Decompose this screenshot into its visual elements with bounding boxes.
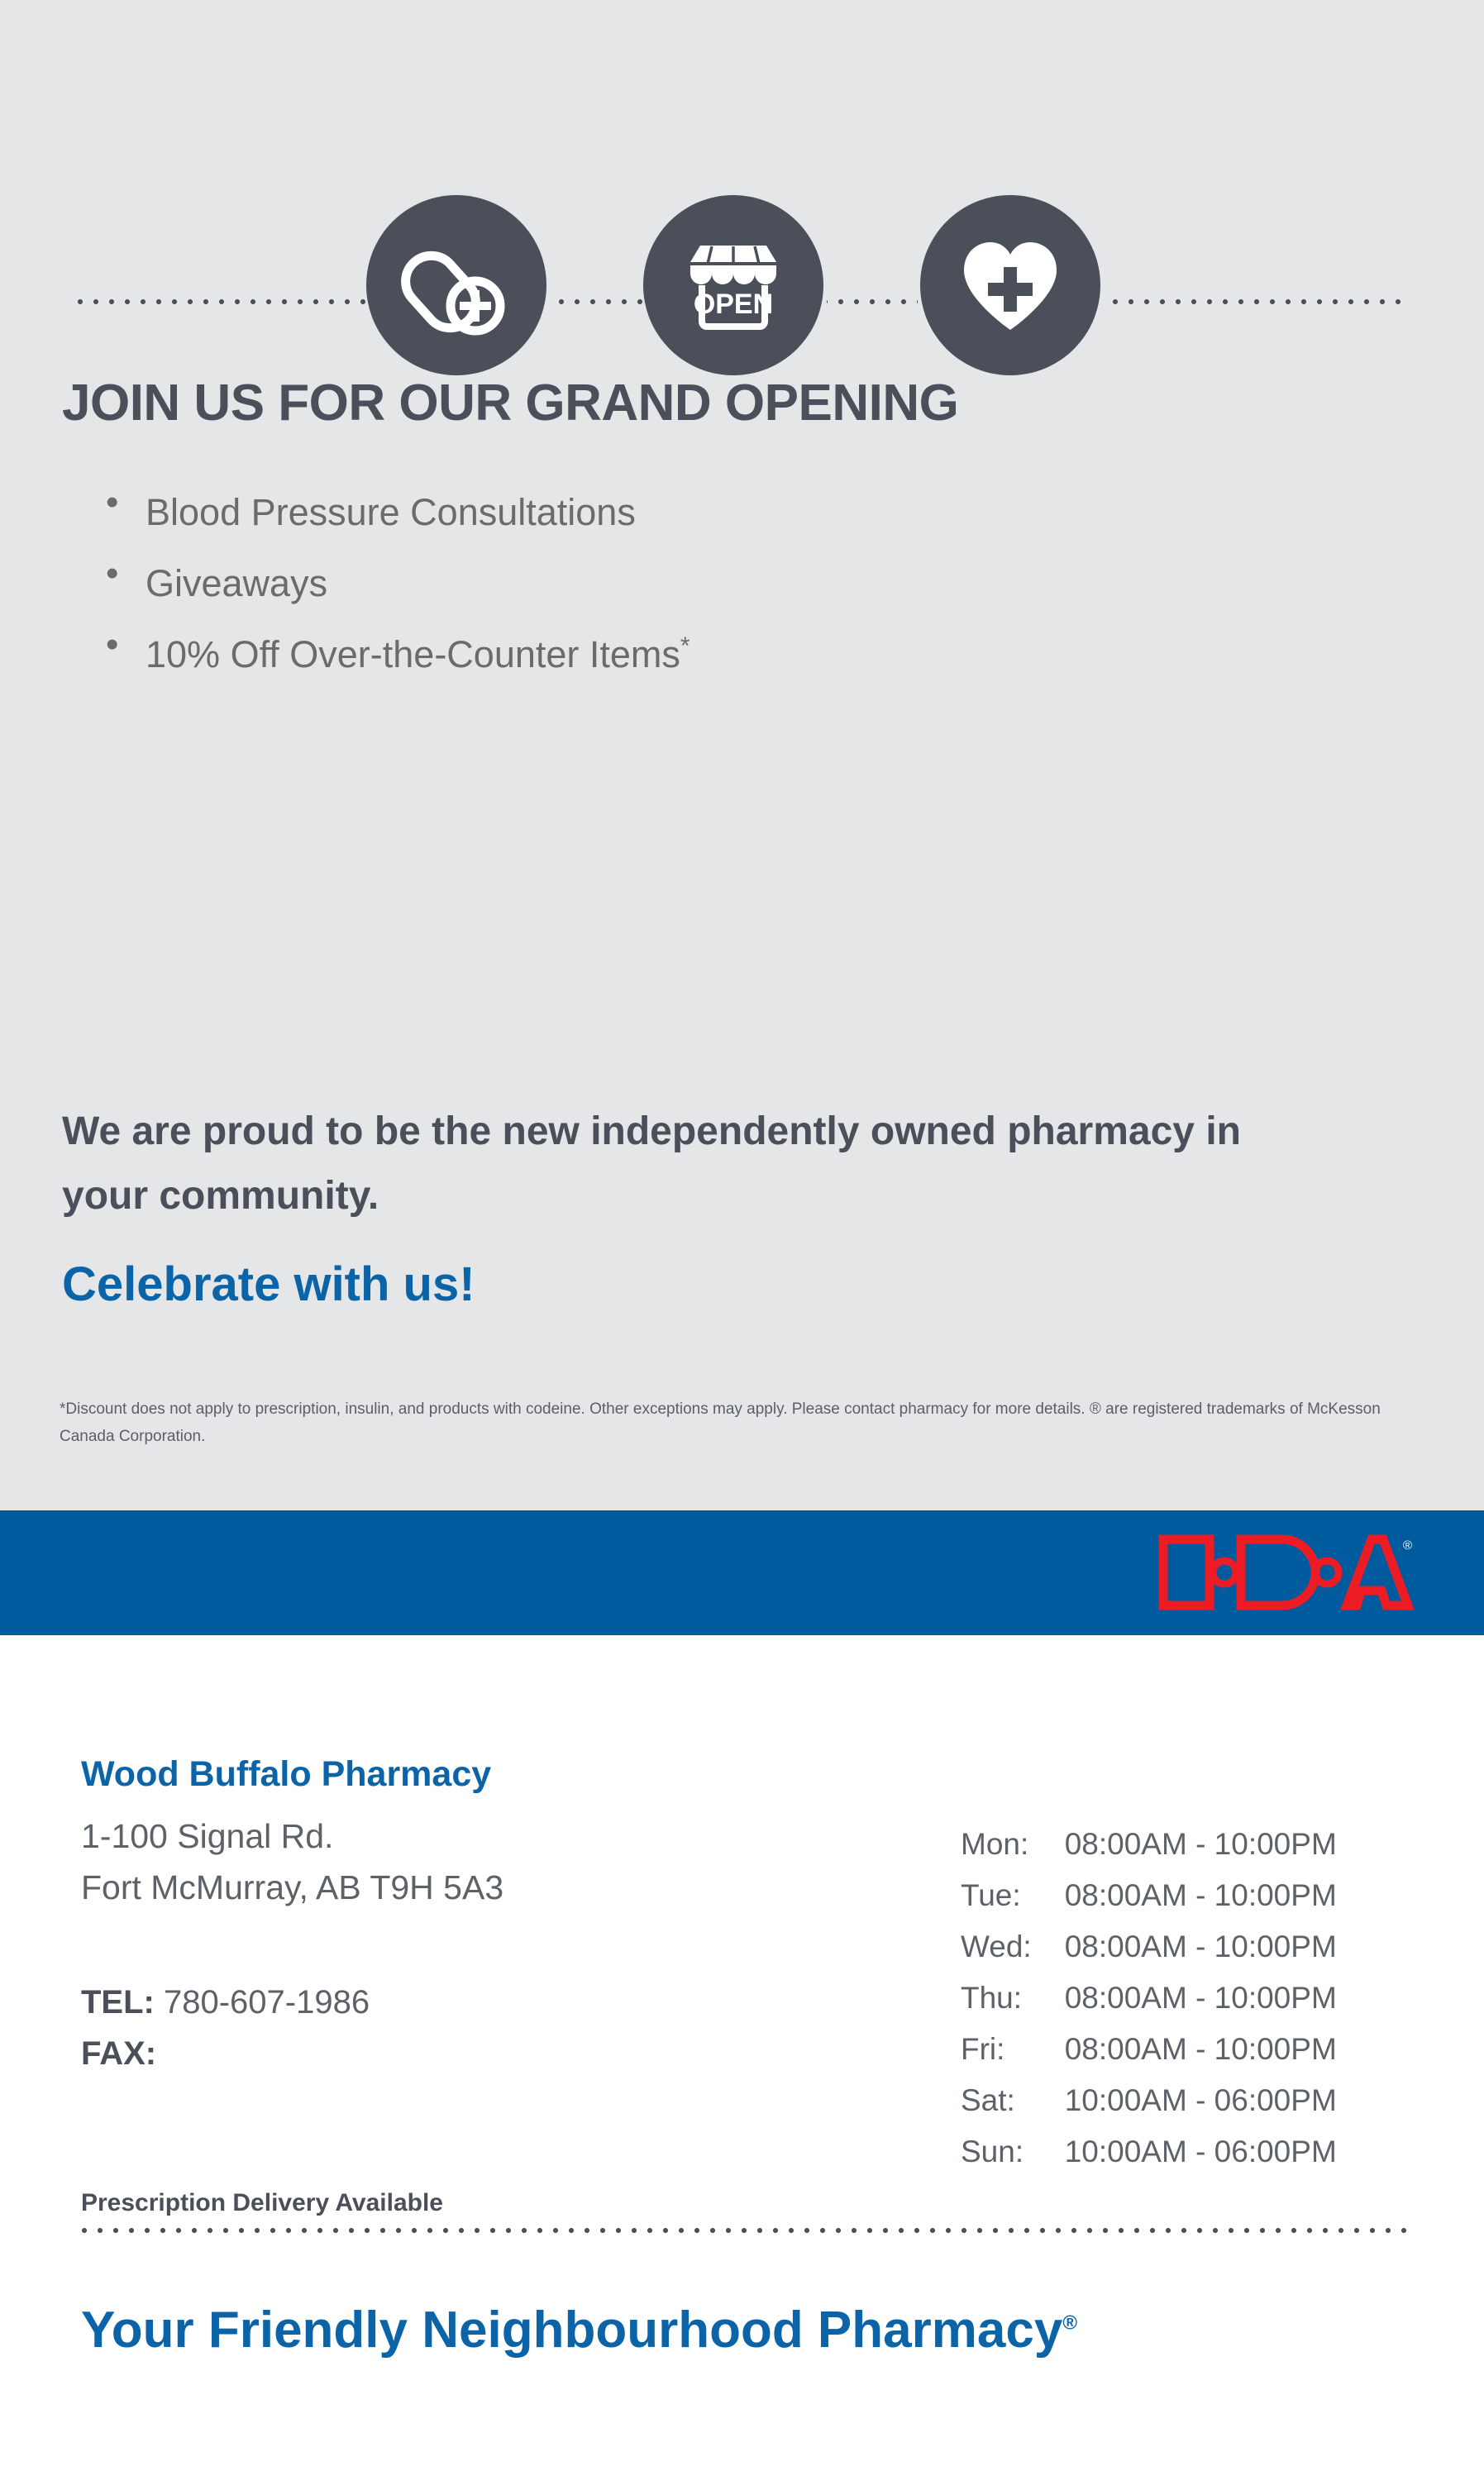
hours-time: 08:00AM - 10:00PM	[1065, 1921, 1337, 1973]
hours-day: Sun:	[961, 2126, 1065, 2178]
tel-label: TEL:	[81, 1984, 155, 2020]
telephone-line: TEL: 780-607-1986	[81, 1984, 370, 2021]
disclaimer-text: *Discount does not apply to prescription…	[60, 1395, 1415, 1450]
table-row: Sun: 10:00AM - 06:00PM	[961, 2126, 1337, 2178]
heart-plus-icon	[920, 195, 1100, 375]
table-row: Mon: 08:00AM - 10:00PM	[961, 1819, 1337, 1870]
hours-day: Thu:	[961, 1973, 1065, 2024]
bullet-text: Giveaways	[146, 562, 327, 604]
bullet-asterisk: *	[680, 632, 690, 660]
icon-strip: OPEN	[0, 98, 1484, 312]
table-row: Fri: 08:00AM - 10:00PM	[961, 2024, 1337, 2075]
dotted-divider-left	[76, 297, 367, 307]
hours-day: Fri:	[961, 2024, 1065, 2075]
list-item: 10% Off Over-the-Counter Items*	[99, 615, 690, 686]
footer-dotted-divider	[79, 2226, 1410, 2235]
tagline-registered-mark: ®	[1062, 2311, 1077, 2334]
table-row: Wed: 08:00AM - 10:00PM	[961, 1921, 1337, 1973]
fax-label: FAX:	[81, 2035, 156, 2072]
page-title: JOIN US FOR OUR GRAND OPENING	[62, 374, 958, 432]
hours-day: Sat:	[961, 2075, 1065, 2126]
tagline-text: Your Friendly Neighbourhood Pharmacy	[81, 2302, 1062, 2359]
dotted-divider-mid-right	[827, 297, 918, 307]
proud-statement: We are proud to be the new independently…	[62, 1100, 1286, 1228]
delivery-note: Prescription Delivery Available	[81, 2189, 443, 2217]
hours-day: Tue:	[961, 1870, 1065, 1921]
hours-time: 08:00AM - 10:00PM	[1065, 1870, 1337, 1921]
hours-time: 10:00AM - 06:00PM	[1065, 2075, 1337, 2126]
tel-value: 780-607-1986	[164, 1984, 370, 2020]
hours-day: Mon:	[961, 1819, 1065, 1870]
address-line-1: 1-100 Signal Rd.	[81, 1810, 503, 1862]
storefront-open-icon: OPEN	[643, 195, 823, 375]
footer-tagline: Your Friendly Neighbourhood Pharmacy®	[81, 2301, 1077, 2359]
hours-time: 08:00AM - 10:00PM	[1065, 1819, 1337, 1870]
open-sign-text: OPEN	[694, 289, 773, 320]
ida-logo: ®	[1155, 1528, 1420, 1617]
store-hours-table: Mon: 08:00AM - 10:00PM Tue: 08:00AM - 10…	[961, 1819, 1337, 2178]
top-grey-panel: OPEN JOIN US FOR OUR GRAND OPENING Blood…	[0, 0, 1484, 1510]
pill-capsule-icon	[366, 195, 546, 375]
dotted-divider-right	[1108, 297, 1405, 307]
bullet-text: 10% Off Over-the-Counter Items	[146, 633, 680, 675]
celebrate-heading: Celebrate with us!	[62, 1257, 475, 1312]
fax-line: FAX:	[81, 2035, 156, 2073]
hours-day: Wed:	[961, 1921, 1065, 1973]
table-row: Thu: 08:00AM - 10:00PM	[961, 1973, 1337, 2024]
hours-time: 08:00AM - 10:00PM	[1065, 1973, 1337, 2024]
list-item: Giveaways	[99, 544, 690, 615]
table-row: Tue: 08:00AM - 10:00PM	[961, 1870, 1337, 1921]
address-line-2: Fort McMurray, AB T9H 5A3	[81, 1862, 503, 1913]
hours-time: 08:00AM - 10:00PM	[1065, 2024, 1337, 2075]
promo-bullet-list: Blood Pressure Consultations Giveaways 1…	[99, 473, 690, 686]
bullet-text: Blood Pressure Consultations	[146, 491, 636, 533]
list-item: Blood Pressure Consultations	[99, 473, 690, 544]
hours-time: 10:00AM - 06:00PM	[1065, 2126, 1337, 2178]
store-name: Wood Buffalo Pharmacy	[81, 1754, 491, 1795]
table-row: Sat: 10:00AM - 06:00PM	[961, 2075, 1337, 2126]
registered-mark: ®	[1403, 1539, 1412, 1553]
store-address: 1-100 Signal Rd. Fort McMurray, AB T9H 5…	[81, 1810, 503, 1913]
